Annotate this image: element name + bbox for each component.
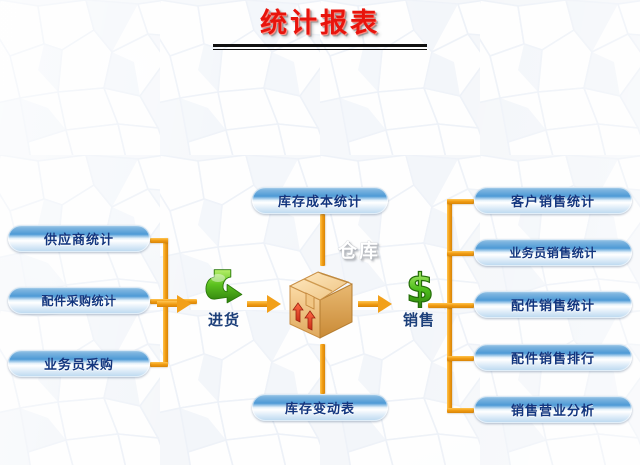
node-label: 业务员采购	[44, 354, 114, 373]
green-curved-down-arrow-icon	[192, 268, 256, 308]
svg-text:$: $	[406, 268, 434, 308]
node-label: 业务员销售统计	[509, 244, 597, 261]
warehouse-label: 仓库	[338, 236, 380, 263]
node-label: 供应商统计	[44, 229, 114, 248]
page-title-text: 统计报表	[260, 8, 380, 39]
node-label: 配件采购统计	[41, 292, 116, 309]
node-label: 销售营业分析	[511, 400, 595, 419]
node-label: 库存成本统计	[278, 191, 362, 210]
green-dollar-sign-icon: $	[388, 268, 450, 308]
node-parts-purchase-statistics[interactable]: 配件采购统计	[8, 287, 150, 314]
flow-arrow-warehouse-to-sales	[358, 295, 392, 313]
flow-arrow-into-inbound	[157, 295, 191, 313]
node-salesperson-purchase[interactable]: 业务员采购	[8, 350, 150, 377]
node-sales-revenue-analysis[interactable]: 销售营业分析	[474, 396, 632, 423]
connector-left-branch-1	[150, 238, 168, 243]
connector-bottom-vertical	[320, 344, 325, 394]
connector-right-branch-1	[447, 199, 474, 204]
connector-right-branch-2	[447, 251, 474, 256]
node-label: 配件销售排行	[511, 348, 595, 367]
node-parts-sales-ranking[interactable]: 配件销售排行	[474, 344, 632, 371]
title-underline	[213, 44, 427, 50]
report-diagram-canvas: 统计报表	[0, 0, 640, 465]
node-parts-sales-statistics[interactable]: 配件销售统计	[474, 291, 632, 318]
node-customer-sales-statistics[interactable]: 客户销售统计	[474, 187, 632, 214]
cardboard-box-icon	[284, 262, 358, 344]
connector-right-branch-5	[447, 408, 474, 413]
node-inventory-change-report[interactable]: 库存变动表	[252, 394, 388, 421]
node-label: 客户销售统计	[511, 191, 595, 210]
page-title: 统计报表	[0, 8, 640, 39]
node-label: 库存变动表	[285, 398, 355, 417]
connector-right-branch-4	[447, 356, 474, 361]
outbound-label: 销售	[388, 309, 450, 330]
inbound-node[interactable]: 进货	[192, 268, 256, 330]
connector-left-branch-3	[150, 362, 168, 367]
connector-top-vertical	[320, 214, 325, 266]
node-salesperson-sales-statistics[interactable]: 业务员销售统计	[474, 239, 632, 266]
node-supplier-statistics[interactable]: 供应商统计	[8, 225, 150, 252]
warehouse-node[interactable]	[284, 262, 358, 344]
outbound-node[interactable]: $ 销售	[388, 268, 450, 330]
node-label: 配件销售统计	[511, 295, 595, 314]
inbound-label: 进货	[192, 309, 256, 330]
node-inventory-cost-report[interactable]: 库存成本统计	[252, 187, 388, 214]
